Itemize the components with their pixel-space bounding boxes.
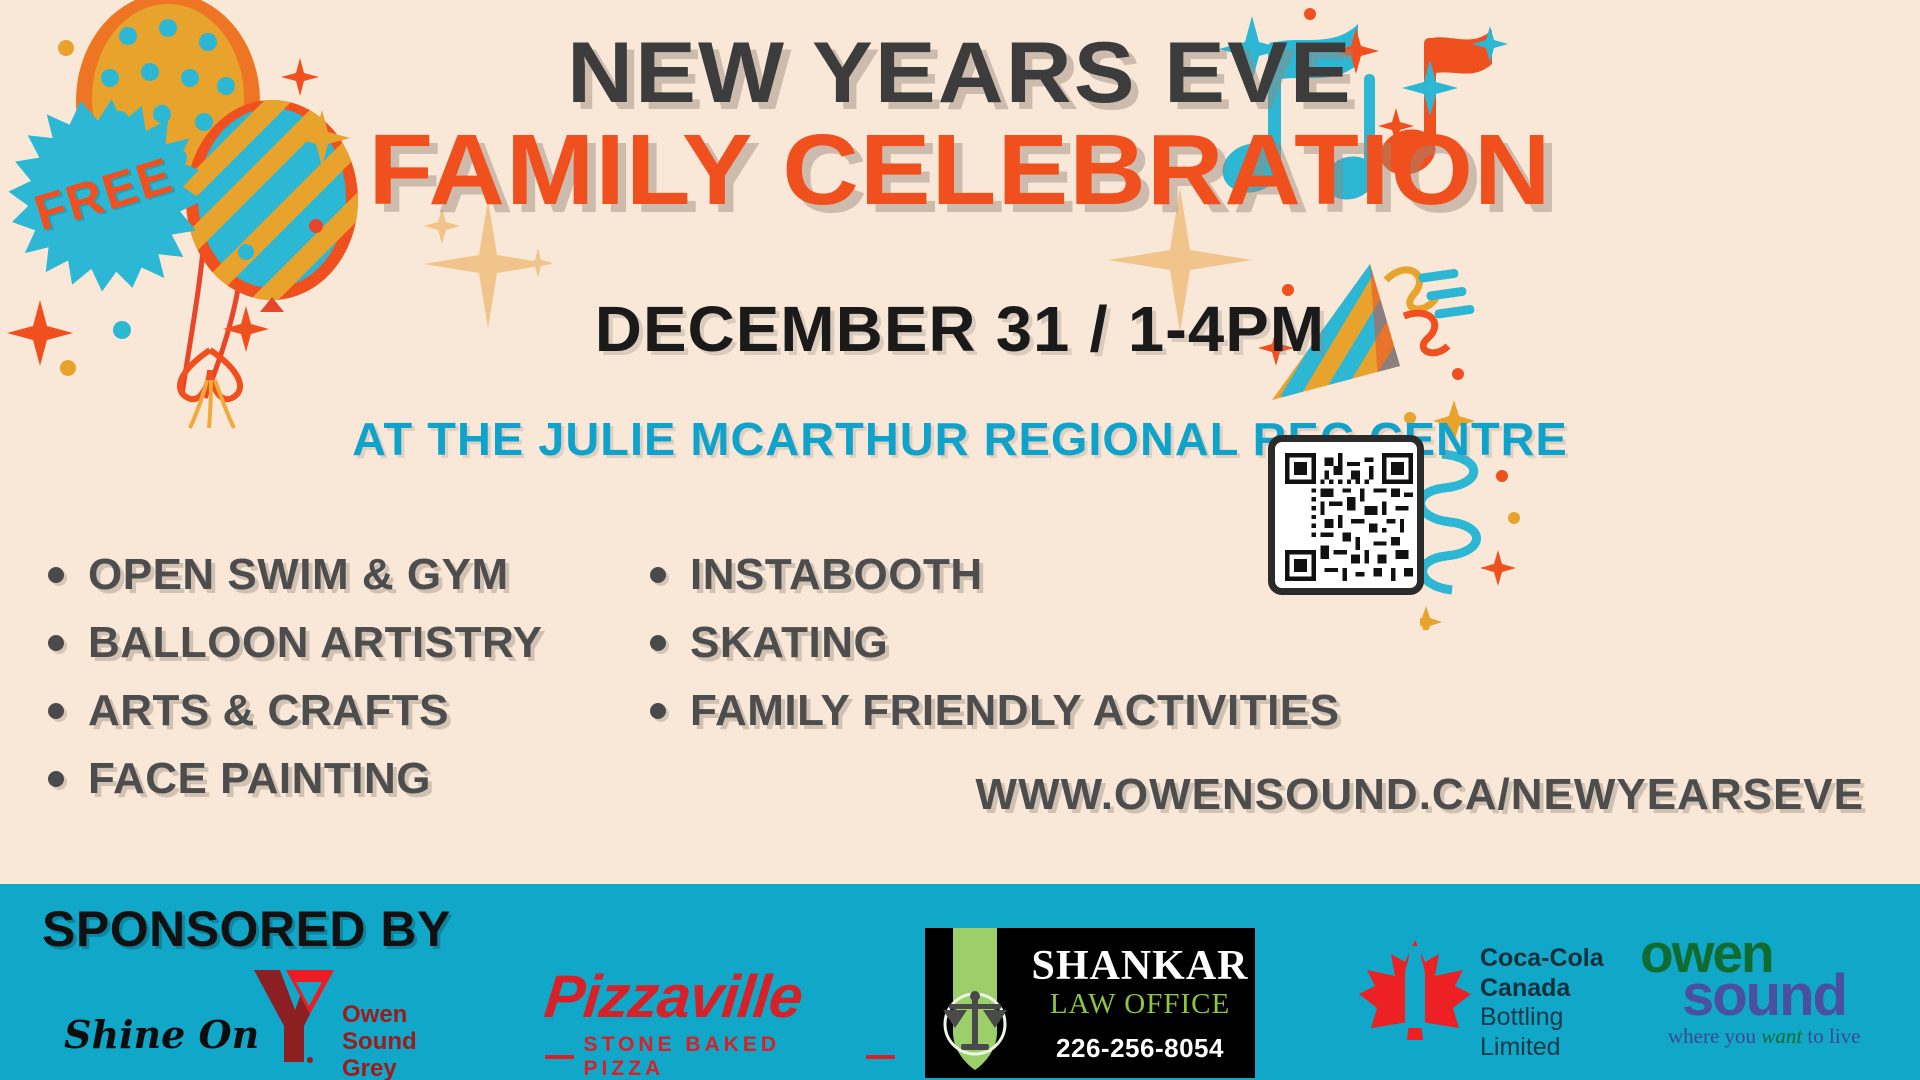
ymca-region-line-1: Owen Sound (342, 1002, 420, 1056)
poster-content: NEW YEARS EVE FAMILY CELEBRATION DECEMBE… (0, 0, 1920, 884)
sponsor-bar: SPONSORED BY Shine On Owen Sound Grey Br… (0, 884, 1920, 1080)
coke-line-2: Canada (1480, 974, 1604, 1004)
activity-label: ARTS & CRAFTS (88, 686, 449, 736)
bullet-dot-icon (650, 567, 666, 583)
shankar-shield-icon (925, 928, 1025, 1078)
tagline-pre: where you (1668, 1024, 1761, 1048)
activity-label: SKATING (690, 618, 888, 668)
activity-label: INSTABOOTH (690, 550, 983, 600)
headline-block: NEW YEARS EVE FAMILY CELEBRATION (0, 30, 1920, 220)
pizzaville-wordmark: Pizzaville (541, 962, 898, 1031)
sponsor-logo-shankar-law-office: SHANKAR LAW OFFICE 226-256-8054 (925, 928, 1255, 1078)
tagline-emphasis: want (1761, 1024, 1802, 1048)
list-item: FAMILY FRIENDLY ACTIVITIES (650, 686, 1350, 736)
ymca-region-line-2: Grey Bruce (342, 1056, 420, 1080)
headline-line-2: FAMILY CELEBRATION (0, 120, 1920, 220)
activity-label: OPEN SWIM & GYM (88, 550, 509, 600)
shankar-phone: 226-256-8054 (1056, 1033, 1224, 1064)
bullet-dot-icon (650, 703, 666, 719)
shankar-name: SHANKAR (1031, 942, 1248, 990)
pizzaville-tagline: STONE BAKED PIZZA (584, 1033, 857, 1080)
sponsor-logo-ymca: Shine On Owen Sound Grey Bruce (60, 962, 420, 1072)
headline-line-1: NEW YEARS EVE (0, 30, 1920, 118)
website-url[interactable]: WWW.OWENSOUND.CA/NEWYEARSEVE (0, 770, 1864, 820)
shankar-text-block: SHANKAR LAW OFFICE 226-256-8054 (1025, 928, 1255, 1078)
scales-of-justice-icon (925, 928, 1025, 1078)
bullet-dot-icon (650, 635, 666, 651)
ymca-region-text: Owen Sound Grey Bruce (342, 1002, 420, 1080)
event-date-time: DECEMBER 31 / 1-4PM (0, 292, 1920, 366)
event-poster: FREE (0, 0, 1920, 1080)
coke-line-3: Bottling (1480, 1003, 1604, 1033)
bullet-dot-icon (48, 635, 64, 651)
coke-line-1: Coca-Cola (1480, 944, 1604, 974)
coke-text-block: Coca-Cola Canada Bottling Limited (1480, 944, 1604, 1062)
event-venue: AT THE JULIE MCARTHUR REGIONAL REC CENTR… (0, 412, 1920, 466)
shankar-subtitle: LAW OFFICE (1050, 988, 1230, 1021)
qr-code[interactable] (1268, 435, 1424, 595)
coke-line-4: Limited (1480, 1033, 1604, 1063)
pizzaville-rule-right (866, 1055, 895, 1059)
ymca-y-icon (250, 966, 336, 1066)
list-item: INSTABOOTH (650, 550, 1350, 600)
qr-code-icon (1285, 452, 1413, 582)
activity-label: FAMILY FRIENDLY ACTIVITIES (690, 686, 1340, 736)
maple-leaf-bottle-icon (1355, 936, 1475, 1056)
owen-sound-word-sound: sound (1682, 971, 1890, 1020)
list-item: OPEN SWIM & GYM (48, 550, 568, 600)
sponsor-logo-pizzaville: Pizzaville STONE BAKED PIZZA (545, 962, 895, 1072)
sponsored-by-heading: SPONSORED BY (42, 900, 451, 958)
tagline-post: to live (1802, 1024, 1860, 1048)
bullet-dot-icon (48, 567, 64, 583)
bullet-dot-icon (48, 703, 64, 719)
pizzaville-rule-left (545, 1055, 574, 1059)
list-item: BALLOON ARTISTRY (48, 618, 568, 668)
owen-sound-tagline: where you want to live (1668, 1024, 1890, 1049)
sponsor-logo-coca-cola-canada-bottling: Coca-Cola Canada Bottling Limited (1355, 936, 1655, 1066)
pizzaville-tagline-row: STONE BAKED PIZZA (545, 1033, 895, 1080)
list-item: SKATING (650, 618, 1350, 668)
sponsor-logo-owen-sound: owen sound where you want to live (1640, 930, 1890, 1060)
activity-label: BALLOON ARTISTRY (88, 618, 543, 668)
list-item: ARTS & CRAFTS (48, 686, 568, 736)
ymca-shine-on-text: Shine On (64, 1012, 259, 1057)
activities-right-column: INSTABOOTH SKATING FAMILY FRIENDLY ACTIV… (650, 550, 1350, 754)
